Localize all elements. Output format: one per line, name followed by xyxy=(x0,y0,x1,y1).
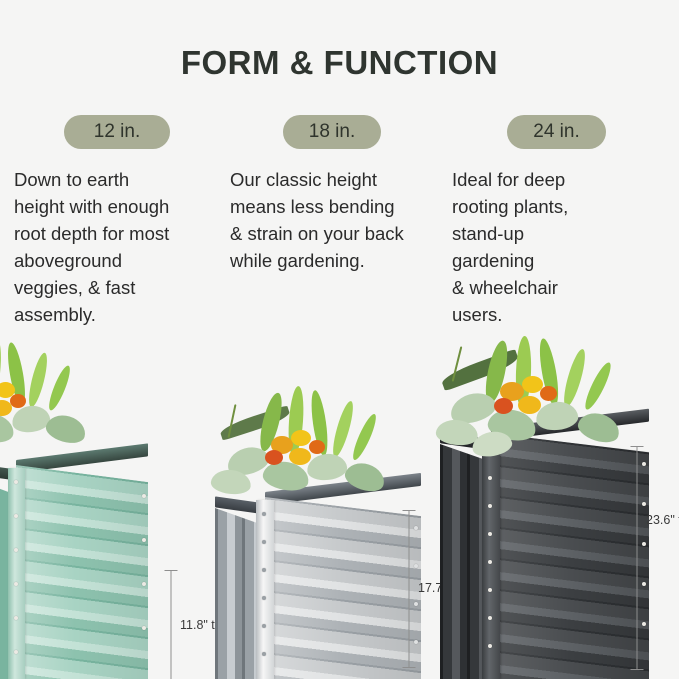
rivet xyxy=(262,596,266,600)
rivet xyxy=(142,538,146,542)
panel-sheen-1 xyxy=(16,465,148,679)
panel-sheen-3 xyxy=(491,433,649,679)
flower xyxy=(522,376,543,393)
flower xyxy=(10,394,26,408)
rivet xyxy=(142,626,146,630)
size-badge-12in: 12 in. xyxy=(64,115,170,149)
leaf xyxy=(287,386,306,457)
leaf xyxy=(560,347,589,408)
infographic-page: FORM & FUNCTION 12 in. Down to earth hei… xyxy=(0,0,679,679)
panel-sheen-2 xyxy=(265,497,421,679)
dimension-line-1 xyxy=(164,570,177,679)
rivet xyxy=(14,480,18,484)
product-photo-row: 11.8" tall xyxy=(0,330,679,679)
leaf xyxy=(308,389,330,456)
leaf xyxy=(447,388,499,428)
flower xyxy=(271,436,293,454)
rivet xyxy=(142,494,146,498)
badge-wrap-12in: 12 in. xyxy=(14,115,220,149)
planter-rivets-1 xyxy=(12,476,21,671)
rivet xyxy=(488,560,492,564)
rivet xyxy=(488,588,492,592)
rivet xyxy=(14,616,18,620)
leaf xyxy=(0,410,16,445)
leaf xyxy=(210,468,252,496)
leaf xyxy=(10,403,51,434)
leaf xyxy=(219,405,292,441)
planter-rivets-2 xyxy=(260,508,269,672)
planter-front-panel-1 xyxy=(16,465,148,679)
benefit-column-24in: 24 in. Ideal for deep rooting plants, st… xyxy=(449,115,664,328)
stem xyxy=(227,404,236,438)
leaf xyxy=(0,337,4,408)
rivet xyxy=(262,512,266,516)
leaf xyxy=(43,411,89,447)
rivet xyxy=(488,448,492,452)
leaf xyxy=(25,351,50,408)
leaf xyxy=(329,399,357,458)
leaf xyxy=(349,412,379,462)
size-badge-24in: 24 in. xyxy=(507,115,605,149)
benefit-columns: 12 in. Down to earth height with enough … xyxy=(0,115,679,330)
rivet xyxy=(262,540,266,544)
flower xyxy=(494,398,513,414)
badge-wrap-18in: 18 in. xyxy=(228,115,436,149)
flower xyxy=(309,440,325,454)
flower xyxy=(0,400,12,416)
leaf xyxy=(45,364,73,413)
rivet xyxy=(488,532,492,536)
planter-front-panel-2 xyxy=(265,497,421,679)
benefit-text-12in: Down to earth height with enough root de… xyxy=(14,166,220,328)
flower xyxy=(540,386,557,401)
leaf xyxy=(581,360,615,412)
leaf xyxy=(306,452,348,482)
flower xyxy=(289,448,311,465)
planter-rivets-3 xyxy=(486,444,495,672)
rivet xyxy=(14,582,18,586)
flower xyxy=(265,450,283,465)
benefit-text-18in: Our classic height means less bending & … xyxy=(230,166,436,274)
product-image-silver: 17.7" tall xyxy=(215,408,450,679)
rivet xyxy=(262,568,266,572)
benefit-column-12in: 12 in. Down to earth height with enough … xyxy=(14,115,220,328)
rivet xyxy=(488,644,492,648)
flower xyxy=(0,382,15,398)
leaf xyxy=(440,349,521,391)
rivet xyxy=(488,476,492,480)
planter-rivets-right-1 xyxy=(140,488,149,673)
dimension-line-2 xyxy=(402,510,415,668)
flower xyxy=(518,396,541,414)
rivet xyxy=(488,504,492,508)
leaf xyxy=(5,341,29,406)
benefit-text-24in: Ideal for deep rooting plants, stand-up … xyxy=(452,166,664,328)
rivet xyxy=(14,548,18,552)
rivet xyxy=(262,624,266,628)
product-image-dark-gray: 23.6" tall xyxy=(440,340,679,679)
planter-front-panel-3 xyxy=(491,433,649,679)
badge-wrap-24in: 24 in. xyxy=(449,115,664,149)
stem xyxy=(452,346,463,381)
rivet xyxy=(14,650,18,654)
leaf xyxy=(482,339,512,405)
leaf xyxy=(515,336,533,408)
flower xyxy=(500,382,524,401)
page-title: FORM & FUNCTION xyxy=(0,44,679,82)
benefit-column-18in: 18 in. Our classic height means less ben… xyxy=(228,115,436,274)
dimension-label-3: 23.6" tall xyxy=(646,513,679,527)
leaf xyxy=(224,443,272,480)
product-image-mint-green: 11.8" tall xyxy=(0,448,175,679)
dimension-line-3 xyxy=(630,446,643,670)
size-badge-18in: 18 in. xyxy=(283,115,381,149)
rivet xyxy=(142,582,146,586)
flower xyxy=(291,430,311,446)
rivet xyxy=(488,616,492,620)
leaf xyxy=(536,337,562,406)
rivet xyxy=(262,652,266,656)
leaf xyxy=(256,391,286,453)
rivet xyxy=(14,514,18,518)
